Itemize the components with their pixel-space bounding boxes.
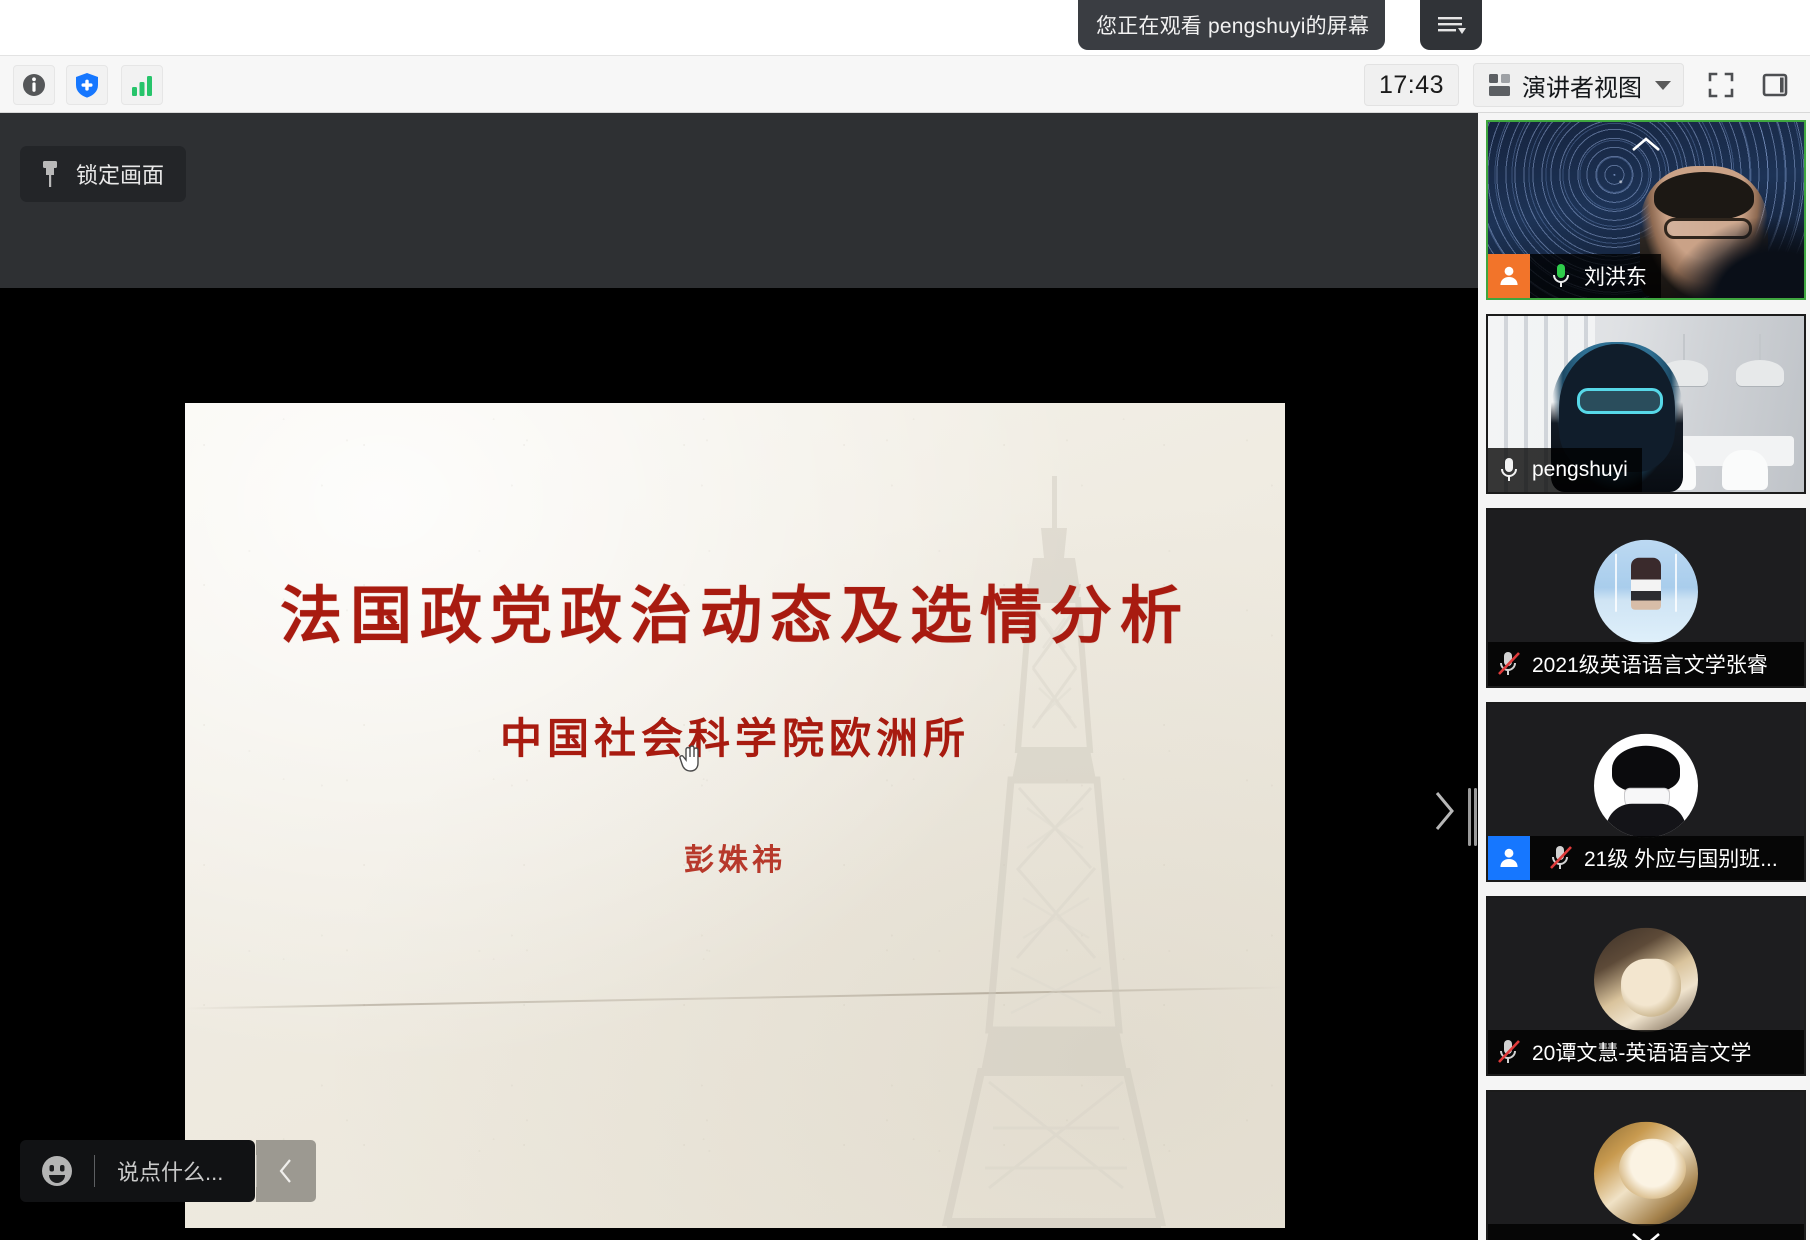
participant-tile[interactable] <box>1486 1090 1806 1240</box>
slide-author: 彭姝祎 <box>185 835 1285 879</box>
resize-handle-bar <box>1468 788 1471 846</box>
rail-scroll-up-button[interactable] <box>1619 130 1673 160</box>
layout-toggle-button[interactable] <box>1752 62 1798 108</box>
participant-name: 2021级英语语言文学张睿 <box>1532 649 1768 679</box>
avatar-image <box>1594 540 1698 644</box>
shield-plus-icon <box>73 71 101 99</box>
emoji-picker-button[interactable] <box>20 1140 94 1202</box>
participant-namebar: pengshuyi <box>1488 448 1642 492</box>
avatar-hair <box>1612 746 1680 792</box>
network-stats-button[interactable] <box>121 65 163 105</box>
pin-icon <box>38 159 62 189</box>
mic-status <box>1540 844 1574 872</box>
participant-rail[interactable]: 刘洪东 pe <box>1478 113 1810 1240</box>
info-icon <box>20 71 48 99</box>
side-by-side-layout-icon <box>1760 70 1790 100</box>
avatar-image <box>1594 1122 1698 1226</box>
participant-namebar: 2021级英语语言文学张睿 <box>1488 642 1804 686</box>
participant-namebar: 20谭文慧-英语语言文学 <box>1488 1030 1804 1074</box>
chevron-down-icon <box>1655 81 1671 90</box>
avatar-body <box>1606 804 1686 838</box>
participant-name: 刘洪东 <box>1584 261 1647 291</box>
mic-on-icon <box>1499 456 1519 484</box>
avatar <box>1594 1122 1698 1226</box>
avatar <box>1594 928 1698 1032</box>
fullscreen-icon <box>1706 70 1736 100</box>
mic-muted-icon <box>1548 844 1574 872</box>
top-notification-bar: 您正在观看 pengshuyi的屏幕 <box>0 0 1810 55</box>
mic-muted-icon <box>1496 650 1522 678</box>
mic-status <box>1488 650 1522 678</box>
avatar-image <box>1594 734 1698 838</box>
meeting-clock: 17:43 <box>1364 64 1459 106</box>
participant-tile[interactable]: 2021级英语语言文学张睿 <box>1486 508 1806 688</box>
office-lamp <box>1736 360 1784 386</box>
speaker-view-icon <box>1487 72 1513 98</box>
mic-status <box>1488 1038 1522 1066</box>
slide-title: 法国政党政治动态及选情分析 <box>185 565 1285 655</box>
participant-tile[interactable]: 21级 外应与国别班... <box>1486 702 1806 882</box>
chevron-left-icon <box>277 1157 295 1185</box>
mic-status <box>1488 456 1522 484</box>
participant-name: pengshuyi <box>1532 458 1628 482</box>
screen-share-stage: 锁定画面 <box>0 113 1478 1240</box>
participant-name: 20谭文慧-英语语言文学 <box>1532 1037 1751 1067</box>
chat-collapse-button[interactable] <box>256 1140 316 1202</box>
participant-name: 21级 外应与国别班... <box>1584 843 1778 873</box>
chat-input-bar: 说点什么... <box>20 1140 255 1202</box>
participant-tile[interactable]: pengshuyi <box>1486 314 1806 494</box>
office-chair <box>1722 450 1768 490</box>
meeting-toolbar: 17:43 演讲者视图 <box>0 55 1810 113</box>
host-badge-icon <box>1488 836 1530 880</box>
participant-namebar: 21级 外应与国别班... <box>1488 836 1804 880</box>
participant-video <box>1488 1092 1804 1240</box>
network-stats-icon <box>128 71 156 99</box>
panel-resize-handle[interactable] <box>1468 788 1477 846</box>
avatar-image <box>1594 928 1698 1032</box>
info-button[interactable] <box>13 65 55 105</box>
lock-screen-label: 锁定画面 <box>76 158 164 190</box>
presentation-slide[interactable]: 法国政党政治动态及选情分析 中国社会科学院欧洲所 彭姝祎 <box>185 403 1285 1228</box>
share-menu-button[interactable] <box>1420 0 1482 50</box>
security-button[interactable] <box>66 65 108 105</box>
meeting-screen-share-window: 您正在观看 pengshuyi的屏幕 <box>0 0 1810 1240</box>
fullscreen-button[interactable] <box>1698 62 1744 108</box>
person-icon <box>1497 264 1521 288</box>
emoji-smiley-icon <box>38 1152 76 1190</box>
mic-muted-icon <box>1496 1038 1522 1066</box>
rail-scroll-down-button[interactable] <box>1619 1224 1673 1240</box>
next-slide-arrow[interactable] <box>1432 788 1458 834</box>
chat-input[interactable]: 说点什么... <box>95 1140 255 1202</box>
participant-tile[interactable]: 20谭文慧-英语语言文学 <box>1486 896 1806 1076</box>
chevron-down-icon <box>1629 1229 1663 1240</box>
toolbar-right-group: 17:43 演讲者视图 <box>1364 56 1810 114</box>
lock-screen-button[interactable]: 锁定画面 <box>20 146 186 202</box>
hand-pointer-cursor <box>677 743 703 773</box>
chevron-up-icon <box>1629 135 1663 155</box>
participant-namebar: 刘洪东 <box>1488 254 1661 298</box>
hamburger-menu-icon <box>1436 14 1466 36</box>
avatar <box>1594 734 1698 838</box>
mic-status <box>1540 262 1574 290</box>
mic-on-icon <box>1551 262 1571 290</box>
avatar <box>1594 540 1698 644</box>
slide-subtitle: 中国社会科学院欧洲所 <box>185 705 1285 766</box>
person-icon <box>1497 846 1521 870</box>
view-mode-selector[interactable]: 演讲者视图 <box>1473 63 1684 107</box>
watching-screen-banner: 您正在观看 pengshuyi的屏幕 <box>1078 0 1385 50</box>
watching-screen-text: 您正在观看 pengshuyi的屏幕 <box>1096 10 1369 40</box>
participant-tile[interactable]: 刘洪东 <box>1486 120 1806 300</box>
resize-handle-bar <box>1474 788 1477 846</box>
view-mode-label: 演讲者视图 <box>1522 68 1642 103</box>
host-badge-icon <box>1488 254 1530 298</box>
